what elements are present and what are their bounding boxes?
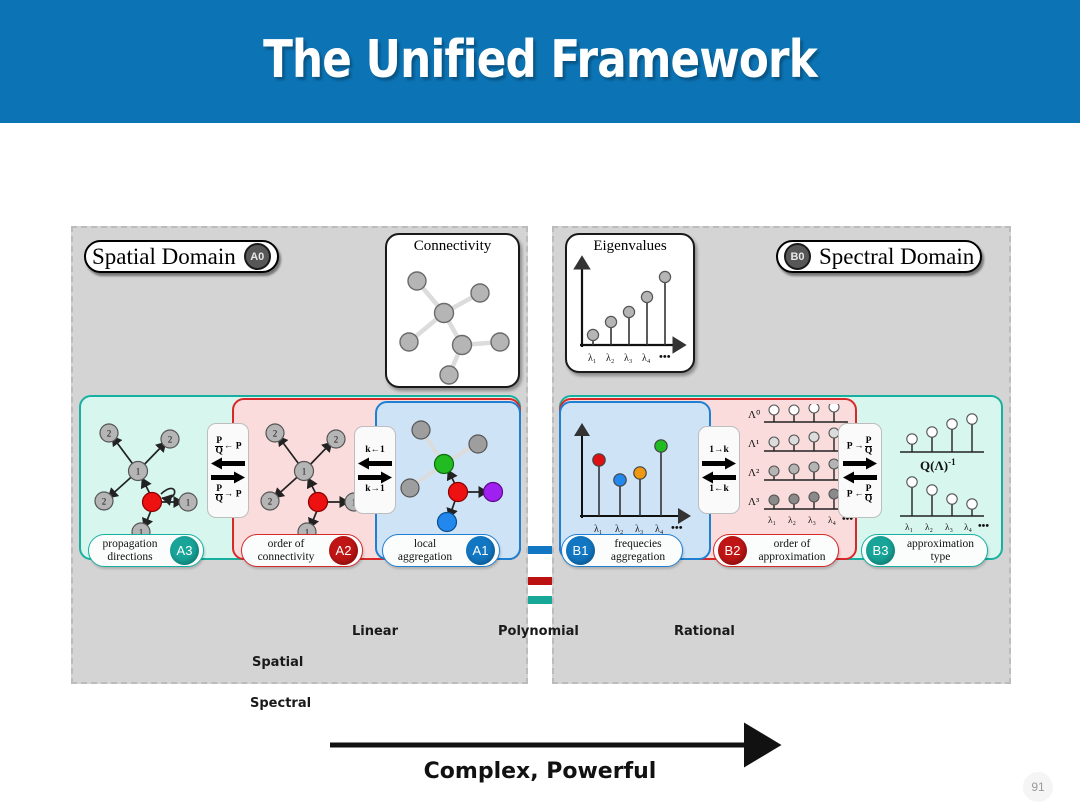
badge-a1[interactable]: A1 bbox=[466, 536, 495, 565]
eig-tick-1: λ₂ bbox=[606, 353, 614, 364]
pq-left-bottom-label: PQ→ P bbox=[214, 485, 241, 504]
k-right-top-label: 1→k bbox=[709, 446, 729, 456]
k-left-bottom-label: k→1 bbox=[365, 485, 385, 495]
pq-right-top-label: P →PQ bbox=[847, 437, 874, 456]
arrow-right-icon bbox=[843, 457, 877, 470]
eig-tick-2: λ₃ bbox=[624, 353, 632, 364]
svg-text:1: 1 bbox=[302, 467, 307, 477]
local-aggregation-graph bbox=[394, 406, 524, 536]
b2-row-label-2: Λ² bbox=[748, 467, 760, 479]
matrix-column-polynomial: Polynomial bbox=[498, 624, 579, 639]
matrix-row-spatial: Spatial bbox=[252, 655, 303, 670]
chip-b2-label: order of approximation bbox=[750, 538, 834, 562]
arrow-left-icon bbox=[843, 471, 877, 484]
matrix-row-spectral: Spectral bbox=[250, 696, 311, 711]
chip-approximation-type[interactable]: B3 approximation type bbox=[861, 534, 988, 567]
spatial-domain-pill: Spatial Domain A0 bbox=[84, 240, 279, 273]
b3-tick-3: λ₄ bbox=[964, 523, 972, 533]
frequencies-aggregation-stem-plot: λ₁ λ₂ λ₃ λ₄ ••• bbox=[566, 408, 698, 543]
b1-ellipsis: ••• bbox=[671, 522, 683, 534]
arrow-right-icon bbox=[211, 471, 245, 484]
spectral-domain-pill: B0 Spectral Domain bbox=[776, 240, 982, 273]
badge-b0: B0 bbox=[784, 243, 811, 270]
chip-order-of-connectivity[interactable]: order of connectivity A2 bbox=[241, 534, 363, 567]
chip-propagation-directions[interactable]: propagation directions A3 bbox=[88, 534, 204, 567]
b2-row-label-0: Λ⁰ bbox=[748, 409, 761, 421]
page-title: The Unified Framework bbox=[86, 30, 993, 90]
svg-text:2: 2 bbox=[107, 429, 112, 439]
svg-text:1: 1 bbox=[136, 467, 141, 477]
connectivity-title: Connectivity bbox=[387, 238, 518, 255]
chip-order-of-approximation[interactable]: B2 order of approximation bbox=[713, 534, 839, 567]
svg-text:1: 1 bbox=[186, 498, 191, 508]
eigenvalues-stem-plot: λ₁ λ₂ λ₃ λ₄ ••• bbox=[567, 235, 693, 371]
b3-formula: Q(Λ) bbox=[920, 458, 948, 473]
spatial-domain-label: Spatial Domain bbox=[92, 245, 236, 268]
svg-text:2: 2 bbox=[273, 429, 278, 439]
b3-tick-2: λ₃ bbox=[945, 523, 953, 533]
badge-a3[interactable]: A3 bbox=[170, 536, 199, 565]
svg-text:2: 2 bbox=[102, 497, 107, 507]
svg-text:2: 2 bbox=[168, 435, 173, 445]
b2-row-label-1: Λ¹ bbox=[748, 438, 759, 450]
arrow-left-icon bbox=[702, 471, 736, 484]
b2-row-label-3: Λ³ bbox=[748, 496, 760, 508]
connectivity-box: Connectivity bbox=[385, 233, 520, 388]
eig-tick-0: λ₁ bbox=[588, 353, 596, 364]
svg-text:2: 2 bbox=[334, 435, 339, 445]
page-number-badge: 91 bbox=[1023, 772, 1053, 802]
b2-tick-3: λ₄ bbox=[828, 516, 836, 526]
b3-tick-1: λ₂ bbox=[925, 523, 933, 533]
propagation-directions-graph: 2 2 1 2 1 1 bbox=[86, 406, 226, 536]
pq-left-top-label: PQ← P bbox=[214, 437, 241, 456]
slide-header-band: The Unified Framework bbox=[0, 0, 1080, 123]
eig-tick-3: λ₄ bbox=[642, 353, 651, 364]
k-left-top-label: k←1 bbox=[365, 446, 385, 456]
b3-formula-exponent: -1 bbox=[948, 457, 956, 467]
chip-local-aggregation[interactable]: local aggregation A1 bbox=[382, 534, 500, 567]
badge-a0: A0 bbox=[244, 243, 271, 270]
arrow-box-k-left[interactable]: k←1 k→1 bbox=[354, 426, 396, 514]
eigenvalues-title: Eigenvalues bbox=[567, 238, 693, 255]
spectral-domain-label: Spectral Domain bbox=[819, 245, 974, 268]
matrix-column-linear: Linear bbox=[352, 624, 398, 639]
arrow-box-k-right[interactable]: 1→k 1←k bbox=[698, 426, 740, 514]
chip-a2-label: order of connectivity bbox=[246, 538, 326, 562]
arrow-right-icon bbox=[358, 471, 392, 484]
connectivity-graph-icon bbox=[387, 235, 518, 386]
b2-tick-1: λ₂ bbox=[788, 516, 796, 526]
chip-b3-label: approximation type bbox=[898, 538, 983, 562]
framework-diagram: Spatial Domain A0 B0 Spectral Domain Con… bbox=[0, 123, 1080, 809]
chip-frequencies-aggregation[interactable]: B1 frequecies aggregation bbox=[561, 534, 683, 567]
pq-right-bottom-label: P ←PQ bbox=[847, 485, 874, 504]
badge-b3[interactable]: B3 bbox=[866, 536, 895, 565]
chip-b1-label: frequecies aggregation bbox=[598, 538, 678, 562]
chip-a1-label: local aggregation bbox=[387, 538, 463, 562]
b3-ellipsis: ••• bbox=[978, 521, 989, 532]
b2-tick-0: λ₁ bbox=[768, 516, 776, 526]
arrow-box-pq-right[interactable]: P →PQ P ←PQ bbox=[838, 423, 882, 518]
complexity-axis-caption: Complex, Powerful bbox=[0, 759, 1080, 784]
badge-b1[interactable]: B1 bbox=[566, 536, 595, 565]
badge-a2[interactable]: A2 bbox=[329, 536, 358, 565]
approximation-type-stems: Q(Λ)-1 λ₁ λ₂ λ₃ λ₄ ••• bbox=[890, 408, 1000, 543]
k-right-bottom-label: 1←k bbox=[709, 485, 729, 495]
arrow-left-icon bbox=[211, 457, 245, 470]
chip-a3-label: propagation directions bbox=[93, 538, 167, 562]
svg-text:2: 2 bbox=[268, 497, 273, 507]
badge-b2[interactable]: B2 bbox=[718, 536, 747, 565]
arrow-right-icon bbox=[702, 457, 736, 470]
eigenvalues-box: Eigenvalues λ₁ λ₂ λ₃ λ₄ ••• bbox=[565, 233, 695, 373]
b3-tick-0: λ₁ bbox=[905, 523, 913, 533]
eig-ellipsis: ••• bbox=[659, 351, 671, 363]
arrow-left-icon bbox=[358, 457, 392, 470]
svg-text:Q(Λ)-1: Q(Λ)-1 bbox=[920, 457, 956, 473]
matrix-column-rational: Rational bbox=[674, 624, 735, 639]
arrow-box-pq-left[interactable]: PQ← P PQ→ P bbox=[207, 423, 249, 518]
b2-tick-2: λ₃ bbox=[808, 516, 816, 526]
